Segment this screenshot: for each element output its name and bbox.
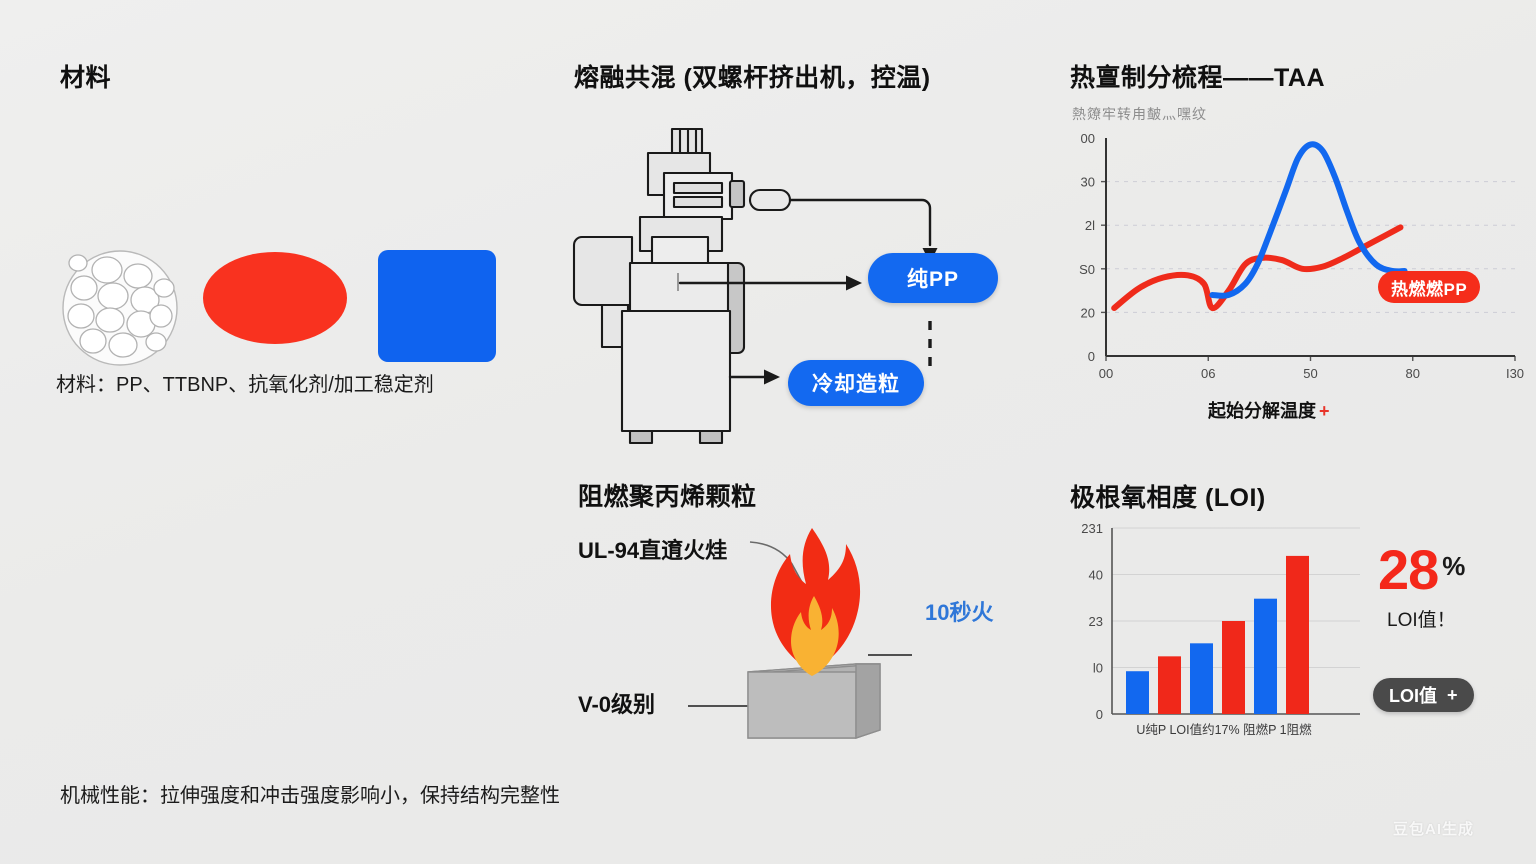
mechanical-properties-note: 机械性能：拉伸强度和冲击强度影响小，保持结构完整性: [60, 779, 560, 808]
svg-text:U纯P LOI值约17% 阻燃P 1阻燃: U纯P LOI值约17% 阻燃P 1阻燃: [1136, 722, 1312, 737]
loi-headline-number: 28: [1378, 543, 1438, 596]
test-specimen-block: [748, 664, 880, 738]
svg-text:80: 80: [1406, 366, 1420, 381]
arrow-head-right-top: [846, 276, 862, 291]
cooling-pelletizing-pill[interactable]: 冷却造粒: [788, 360, 924, 406]
tga-line-chart: 00302lS0200 00065080I30: [1060, 130, 1525, 390]
svg-text:20: 20: [1081, 305, 1095, 320]
pure-pp-pill[interactable]: 纯PP: [868, 253, 998, 303]
infographic-canvas: 材料 材料：PP、TTBNP、抗氧化剂/加工稳定剂 熔融共混 (双螺杆挤出机，控…: [0, 0, 1536, 864]
loi-bars: [1126, 556, 1309, 714]
loi-chip-button[interactable]: LOI值 +: [1373, 678, 1474, 712]
svg-text:40: 40: [1089, 568, 1103, 583]
cooling-pelletizing-pill-label: 冷却造粒: [812, 368, 900, 398]
arrow-head-right-bottom: [764, 370, 780, 385]
loi-chip-label: LOI值: [1389, 682, 1437, 708]
plus-icon: +: [1447, 685, 1458, 706]
loi-bar-chart: 2314023l00 U纯P LOI值约17% 阻燃P 1阻燃: [1060, 518, 1380, 753]
tga-x-tick-labels: 00065080I30: [1099, 356, 1524, 381]
svg-text:23: 23: [1089, 614, 1103, 629]
svg-text:0: 0: [1096, 707, 1103, 722]
tga-chart-title: 热亶制分梳程——TAA: [1070, 58, 1325, 94]
svg-text:l0: l0: [1093, 661, 1103, 676]
svg-text:06: 06: [1201, 366, 1215, 381]
tga-series-paths: [1114, 144, 1404, 308]
svg-text:00: 00: [1081, 131, 1095, 146]
loi-chart-title: 极根氧相度 (LOI): [1070, 478, 1266, 514]
svg-text:0: 0: [1088, 349, 1095, 364]
blue-square-swatch: [378, 250, 496, 362]
svg-text:50: 50: [1303, 366, 1317, 381]
tga-y-tick-labels: 00302lS0200: [1079, 131, 1095, 364]
tga-chart-subtitle: 熱爒牢转甪皶灬嘿纹: [1072, 104, 1207, 124]
extruder-section-title: 熔融共混 (双螺杆挤出机，控温): [574, 58, 931, 94]
loi-x-tick-labels: U纯P LOI值约17% 阻燃P 1阻燃: [1136, 722, 1312, 737]
materials-section-title: 材料: [60, 58, 111, 94]
plus-icon: +: [1319, 401, 1330, 421]
svg-text:2l: 2l: [1085, 218, 1095, 233]
loi-y-tick-labels: 2314023l00: [1081, 521, 1103, 722]
svg-text:I30: I30: [1506, 366, 1524, 381]
loi-headline-subtext: LOI值！: [1387, 605, 1456, 632]
loi-headline-percent: %: [1442, 551, 1465, 582]
tga-x-axis-title-text: 起始分解温度: [1208, 401, 1316, 421]
flame-test-illustration: [560, 500, 1030, 750]
svg-text:00: 00: [1099, 366, 1113, 381]
tga-x-axis-title: 起始分解温度+: [1208, 397, 1330, 423]
svg-text:S0: S0: [1079, 262, 1095, 277]
red-ellipse-swatch: [203, 252, 347, 344]
tga-series-badge-label: 热燃燃PP: [1391, 275, 1467, 300]
materials-caption: 材料：PP、TTBNP、抗氧化剂/加工稳定剂: [56, 368, 434, 397]
ai-watermark: 豆包AI生成: [1393, 818, 1474, 839]
loi-headline-value: 28 %: [1378, 543, 1465, 596]
tga-series-badge[interactable]: 热燃燃PP: [1378, 271, 1480, 303]
pellet-cluster-icon: [60, 248, 180, 368]
svg-text:231: 231: [1081, 521, 1103, 536]
svg-text:30: 30: [1081, 175, 1095, 190]
pure-pp-pill-label: 纯PP: [907, 263, 959, 293]
